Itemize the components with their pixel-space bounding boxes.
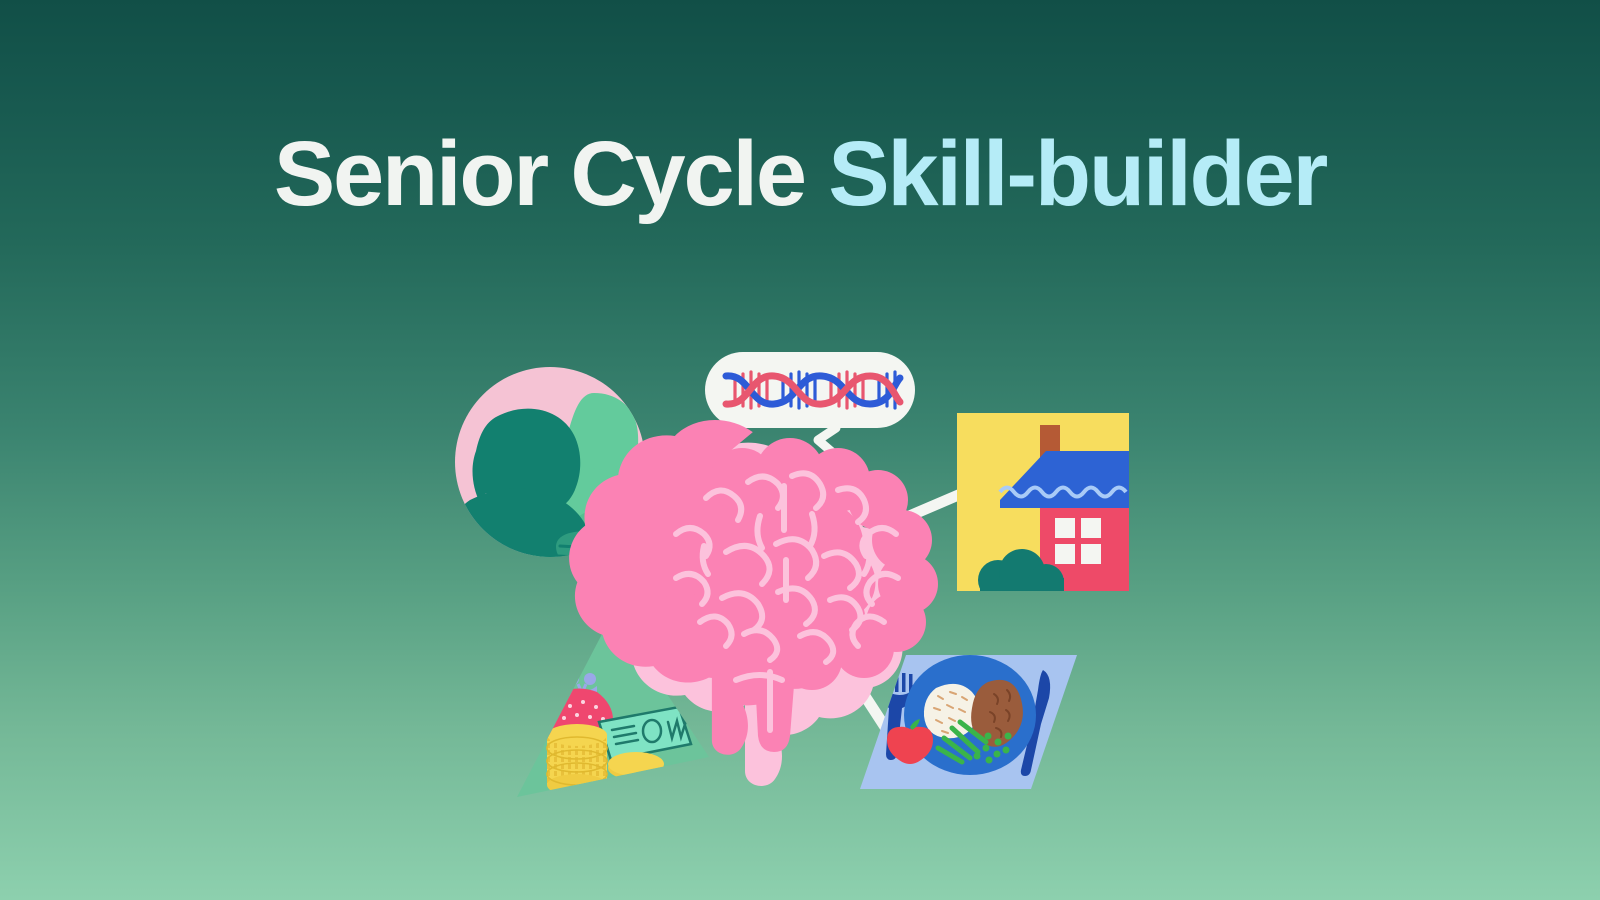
figure-dark-icon [436,409,623,610]
money-triangle-backdrop [517,613,709,797]
connector-line-genetics [808,428,836,490]
purse-clasp-icon [566,673,597,700]
connector-line-housing [900,490,970,520]
peas [974,733,1012,764]
node-housing[interactable] [957,413,1129,604]
dna-helix-icon [726,372,900,408]
meat-portion [971,680,1023,747]
green-beans [938,722,986,762]
house-square-backdrop [957,413,1129,591]
rice-portion [924,684,979,738]
slide-canvas: Senior Cycle Skill-builder [0,0,1600,900]
bush-icon [978,549,1064,604]
placemat-backdrop [860,655,1077,789]
node-relationships[interactable] [436,367,681,610]
banknote-icon [599,707,691,760]
page-title-accent: Skill-builder [828,123,1326,225]
node-nutrition[interactable] [860,655,1077,789]
connector-lines [600,428,970,750]
brain-folds [676,473,898,730]
single-coin-icon [608,752,664,780]
roof-scallop-trim [1000,488,1126,497]
rice-grains [934,692,967,733]
page-title-primary: Senior Cycle [274,123,828,225]
house-wall [1040,493,1129,591]
coin-purse-icon [543,689,613,750]
thought-bubble-shape [705,352,915,428]
house-roof [1000,451,1129,508]
chimney-icon [1040,425,1060,467]
brain-icon[interactable] [569,420,938,786]
connector-line-relationships [600,487,690,520]
node-genetics[interactable] [705,352,915,428]
house-window-icon [1055,518,1101,564]
plate [904,655,1036,775]
people-circle-backdrop [455,367,645,557]
connector-line-nutrition [835,650,900,750]
node-money[interactable] [517,613,709,797]
figure-light-icon [524,393,681,594]
brain-lobes [636,438,938,752]
purse-dots [562,700,605,744]
apple-icon [887,719,933,764]
knife-icon [1021,670,1050,776]
coin-stack-icon [547,724,607,796]
fork-icon [879,673,914,760]
connector-line-money [631,622,752,672]
page-title: Senior Cycle Skill-builder [0,128,1600,220]
